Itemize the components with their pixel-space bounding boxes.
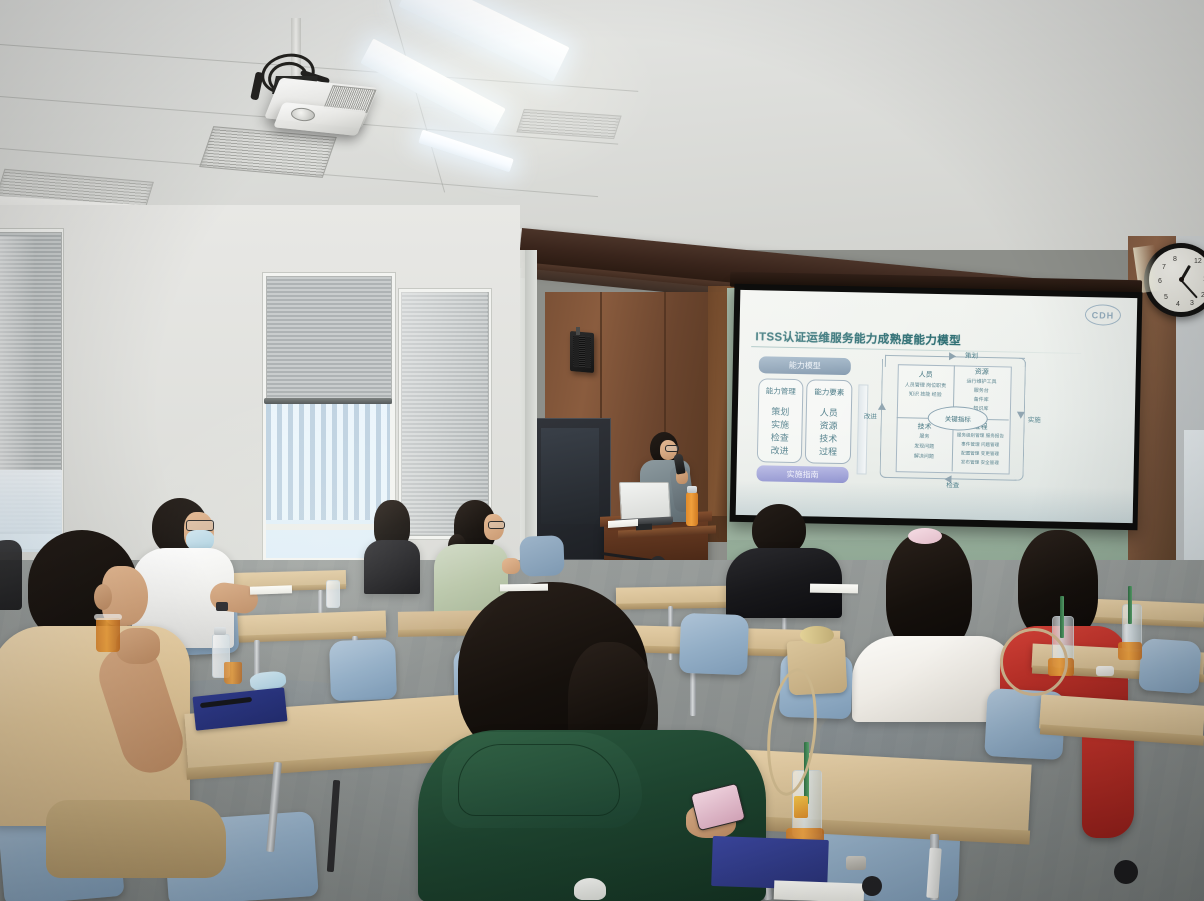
hand	[502, 558, 520, 574]
juice-cup-right-2	[1118, 642, 1142, 660]
q-res-item-3: 备件库	[953, 395, 1009, 403]
small-tin	[846, 856, 866, 870]
bottle-straw-right-2	[1128, 586, 1132, 624]
chair-8[interactable]	[1138, 638, 1201, 694]
ce-item-2: 资源	[806, 418, 850, 432]
window-blind-middle[interactable]	[266, 276, 392, 404]
hood-seam	[458, 744, 620, 816]
cycle-arrow-left	[878, 403, 886, 410]
capability-management-box: 能力管理 策划 实施 检查 改进	[757, 378, 804, 463]
red-jacket-on-chair	[1082, 728, 1134, 838]
capability-elements-box: 能力要素 人员 资源 技术 过程	[805, 379, 853, 464]
slide-title: ITSS认证运维服务能力成熟度能力模型	[755, 328, 961, 348]
glasses-icon	[488, 521, 505, 529]
papers-mid-left-2	[500, 584, 548, 592]
chair-wheel-2	[862, 876, 882, 896]
small-cup-right	[1096, 666, 1114, 676]
ce-item-4: 过程	[806, 444, 850, 458]
q-tech-item-1: 服务	[896, 432, 952, 440]
capability-management-label: 能力管理	[759, 385, 802, 397]
projection-screen: CDH ITSS认证运维服务能力成熟度能力模型 能力模型 能力管理 策划 实施 …	[736, 290, 1138, 523]
clock-minute-hand	[1180, 279, 1198, 298]
key-indicator-label: 关键指标	[945, 413, 971, 424]
cycle-label-plan: 策划	[965, 350, 978, 360]
blind-bottom-rail-middle[interactable]	[264, 398, 392, 404]
ear	[94, 584, 112, 610]
q-res-item-1: 运行维护工具	[953, 377, 1009, 385]
classroom-photo-scene: 12 1 2 3 4 5 6 7 8 CDH ITSS认证运维服务能力成熟度能力…	[0, 0, 1204, 901]
drawstring-toggle	[574, 878, 606, 900]
slide-logo: CDH	[1085, 304, 1121, 326]
sanitizer-mid	[326, 580, 340, 608]
q-proc-item-2: 事件管理 问题管理	[950, 441, 1010, 448]
bag-chain	[800, 626, 834, 644]
cycle-arrow-top	[949, 352, 956, 360]
ce-item-1: 人员	[807, 405, 851, 419]
cycle-label-check: 检查	[946, 479, 959, 489]
cm-item-3: 检查	[758, 430, 801, 444]
implementation-guide-footer: 实施指南	[756, 465, 848, 483]
slide-logo-text: CDH	[1092, 310, 1115, 320]
cm-item-4: 改进	[758, 443, 801, 457]
q-tech-item-2: 发现问题	[896, 442, 952, 450]
capability-elements-label: 能力要素	[807, 386, 851, 398]
presenter-glasses	[665, 445, 679, 452]
papers-mid-left	[250, 585, 292, 594]
q-tech-item-3: 解决问题	[896, 452, 952, 460]
attendee-black-top-woman	[362, 500, 424, 592]
q-proc-item-4: 发布管理 安全管理	[950, 459, 1010, 466]
cm-item-2: 实施	[758, 417, 801, 431]
papers-center	[774, 880, 865, 901]
attendee-partial-left-edge	[0, 540, 22, 610]
notebook-right-back	[810, 584, 858, 594]
round-bag-right	[1000, 628, 1068, 696]
capability-model-header: 能力模型	[759, 356, 851, 375]
chair-wheel	[1114, 860, 1138, 884]
cycle-label-act: 改进	[864, 410, 877, 420]
torso	[364, 540, 420, 594]
q-people-item-2: 知识 技能 经验	[895, 390, 955, 398]
chair-2[interactable]	[329, 639, 397, 701]
quadrant-label-people: 人员	[898, 369, 954, 380]
q-people-item-1: 人员管理 岗位职责	[895, 381, 955, 389]
presenter-juice-bottle	[686, 492, 698, 526]
bottle-straw-right	[1060, 596, 1064, 638]
small-juice-cup	[224, 662, 242, 684]
bottle-label	[794, 796, 808, 818]
ce-item-3: 技术	[806, 431, 850, 445]
q-res-item-2: 服务台	[953, 386, 1009, 394]
cm-item-1: 策划	[759, 404, 802, 418]
cycle-label-do: 实施	[1028, 414, 1041, 424]
hand	[116, 628, 160, 664]
panel-connector	[857, 384, 869, 474]
attendee-front-left-man	[0, 530, 220, 870]
implementation-guide-label: 实施指南	[786, 468, 818, 480]
cycle-arrow-right	[1017, 412, 1025, 419]
q-proc-item-3: 配置管理 变更管理	[950, 450, 1010, 457]
shorts	[46, 800, 226, 878]
capability-model-header-label: 能力模型	[789, 360, 821, 372]
laptop-stand	[636, 524, 652, 531]
quadrant-label-resource: 资源	[954, 366, 1010, 377]
chair-4[interactable]	[519, 535, 564, 577]
scrunchie	[908, 528, 942, 544]
tea-drink-cup	[96, 618, 120, 652]
q-proc-item-1: 服务级别管理 服务报告	[950, 432, 1010, 439]
